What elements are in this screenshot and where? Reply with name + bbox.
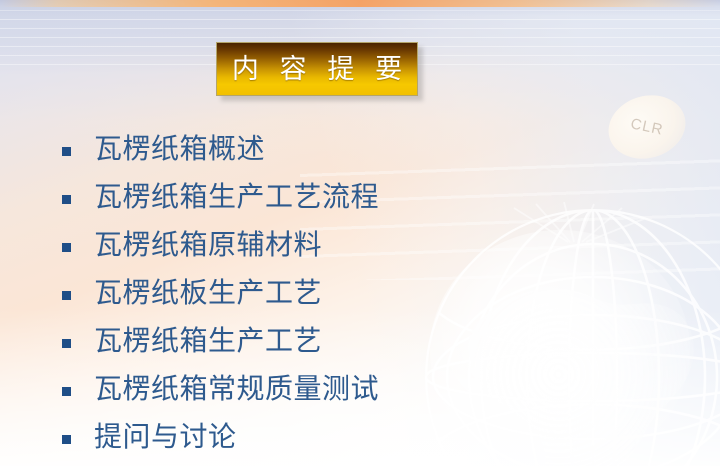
slide-title: 内 容 提 要 xyxy=(225,56,409,83)
square-bullet-icon xyxy=(62,339,71,348)
list-item-label: 瓦楞纸箱常规质量测试 xyxy=(94,376,379,404)
list-item-label: 瓦楞纸箱生产工艺流程 xyxy=(94,184,379,212)
square-bullet-icon xyxy=(62,243,71,252)
presentation-slide: CLR 内 容 提 要 瓦楞纸箱概述 瓦楞纸箱生产工艺流程 瓦楞纸箱原辅材料 瓦… xyxy=(0,0,720,466)
list-item-label: 瓦楞纸箱概述 xyxy=(94,136,265,164)
clr-watermark-icon: CLR xyxy=(601,86,693,167)
slide-title-banner: 内 容 提 要 xyxy=(216,42,418,96)
square-bullet-icon xyxy=(62,291,71,300)
list-item[interactable]: 瓦楞纸箱原辅材料 xyxy=(62,222,492,270)
outline-list: 瓦楞纸箱概述 瓦楞纸箱生产工艺流程 瓦楞纸箱原辅材料 瓦楞纸板生产工艺 瓦楞纸箱… xyxy=(62,126,492,462)
list-item[interactable]: 瓦楞纸箱常规质量测试 xyxy=(62,366,492,414)
square-bullet-icon xyxy=(62,387,71,396)
clr-watermark-label: CLR xyxy=(629,115,665,138)
list-item[interactable]: 瓦楞纸箱生产工艺流程 xyxy=(62,174,492,222)
list-item-label: 瓦楞纸箱原辅材料 xyxy=(94,232,322,260)
slide-top-haze xyxy=(0,0,720,16)
list-item[interactable]: 瓦楞纸箱生产工艺 xyxy=(62,318,492,366)
square-bullet-icon xyxy=(62,147,71,156)
list-item-label: 瓦楞纸板生产工艺 xyxy=(94,280,322,308)
list-item[interactable]: 提问与讨论 xyxy=(62,414,492,462)
list-item[interactable]: 瓦楞纸板生产工艺 xyxy=(62,270,492,318)
list-item-label: 瓦楞纸箱生产工艺 xyxy=(94,328,322,356)
square-bullet-icon xyxy=(62,435,71,444)
list-item-label: 提问与讨论 xyxy=(94,424,237,452)
square-bullet-icon xyxy=(62,195,71,204)
slide-top-accent-stripe xyxy=(0,0,720,7)
list-item[interactable]: 瓦楞纸箱概述 xyxy=(62,126,492,174)
